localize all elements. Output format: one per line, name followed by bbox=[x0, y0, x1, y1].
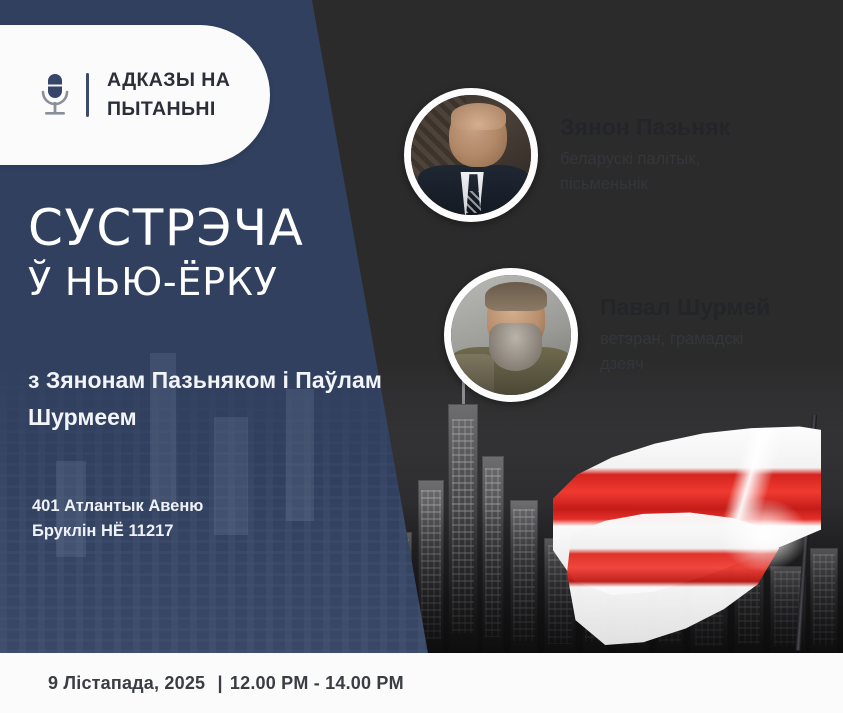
footer-bar: 9 Лістапада, 2025 | 12.00 PM - 14.00 PM bbox=[0, 653, 843, 713]
event-poster: АДКАЗЫ НА ПЫТАНЬНІ СУСТРЭЧА Ў НЬЮ-ЁРКУ з… bbox=[0, 0, 843, 713]
speaker-card-1: Зянон Пазьняк беларускі палітык, пісьмен… bbox=[404, 88, 730, 222]
badge-divider bbox=[86, 73, 89, 117]
page-title: СУСТРЭЧА Ў НЬЮ-ЁРКУ bbox=[28, 200, 368, 307]
headline-line-1: СУСТРЭЧА bbox=[28, 200, 368, 256]
event-date: 9 Лістапада, 2025 bbox=[48, 673, 205, 693]
speaker-card-2: Павал Шурмей ветэран, грамадскі дзеяч bbox=[444, 268, 770, 402]
datetime-separator: | bbox=[217, 673, 222, 693]
subtitle-with-speakers: з Зянонам Пазьняком і Паўлам Шурмеем bbox=[28, 362, 400, 437]
speaker-name: Павал Шурмей bbox=[600, 294, 770, 322]
speaker-role: беларускі палітык, пісьменьнік bbox=[560, 147, 730, 196]
qa-badge-label: АДКАЗЫ НА ПЫТАНЬНІ bbox=[107, 66, 230, 125]
avatar bbox=[404, 88, 538, 222]
event-datetime: 9 Лістапада, 2025 | 12.00 PM - 14.00 PM bbox=[48, 673, 404, 694]
event-time: 12.00 PM - 14.00 PM bbox=[230, 673, 404, 693]
venue-address: 401 Атлантык Авеню Бруклін НЁ 11217 bbox=[32, 494, 203, 544]
speaker-role: ветэран, грамадскі дзеяч bbox=[600, 327, 770, 376]
headline-line-2: Ў НЬЮ-ЁРКУ bbox=[28, 258, 368, 307]
flag-cloth-lower bbox=[567, 507, 779, 645]
speaker-name: Зянон Пазьняк bbox=[560, 114, 730, 142]
microphone-icon bbox=[38, 72, 72, 118]
belarus-flag-image bbox=[545, 415, 843, 653]
qa-badge: АДКАЗЫ НА ПЫТАНЬНІ bbox=[0, 25, 270, 165]
avatar bbox=[444, 268, 578, 402]
